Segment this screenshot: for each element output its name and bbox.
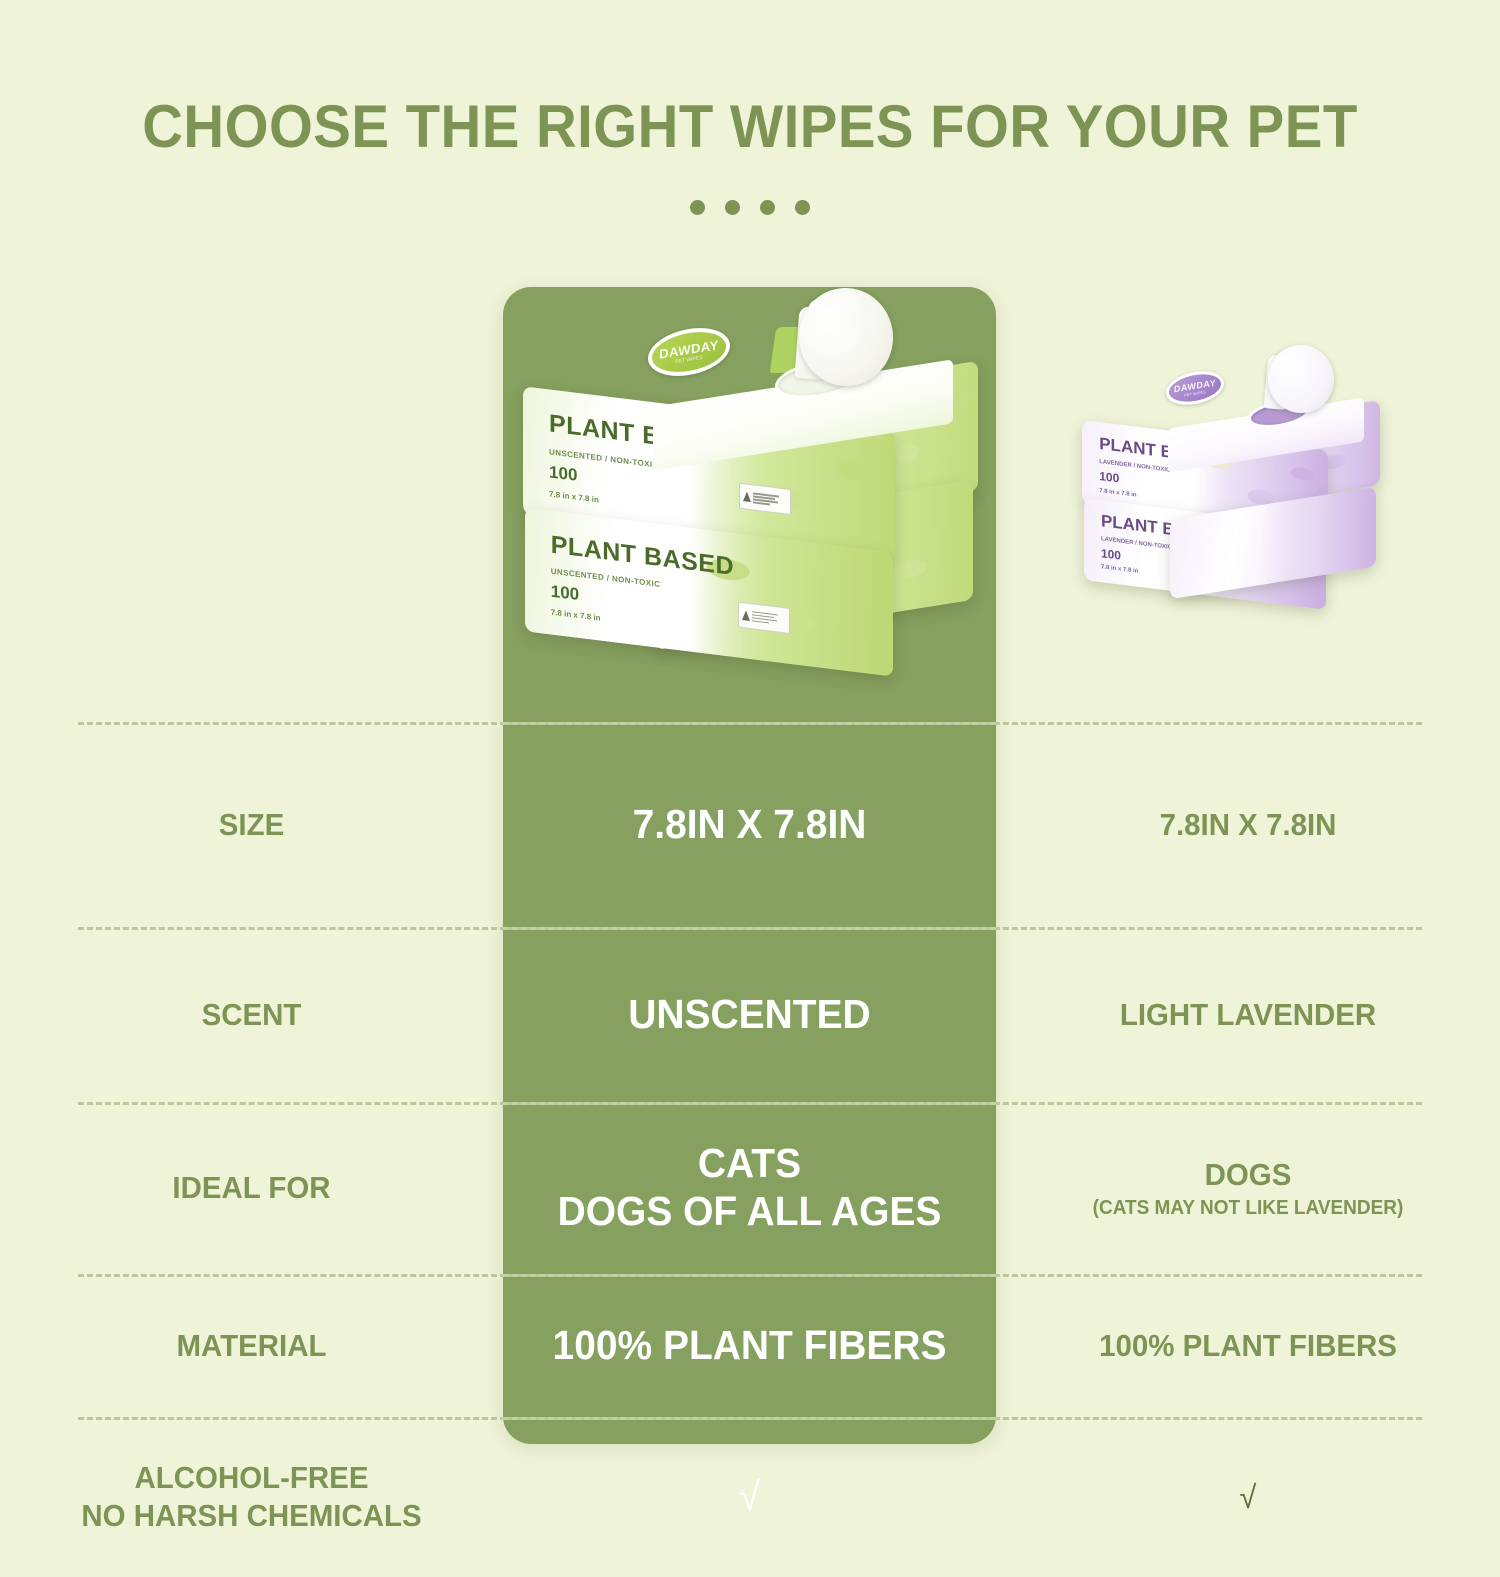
leaf-pattern (687, 527, 893, 676)
row-label-size: SIZE (13, 806, 491, 844)
cell-scent-lavender: LIGHT LAVENDER (1009, 996, 1488, 1033)
checkmark-icon-lavender: √ (1009, 1478, 1488, 1516)
pack-count: 100 (1099, 469, 1119, 485)
table-row-ideal-for: IDEAL FOR CATS DOGS OF ALL AGES DOGS (CA… (0, 1102, 1500, 1274)
page-title: CHOOSE THE RIGHT WIPES FOR YOUR PET (45, 92, 1455, 161)
table-row-alcohol-free: ALCOHOL-FREE NO HARSH CHEMICALS √ √ (0, 1417, 1500, 1577)
row-label-scent: SCENT (13, 996, 491, 1034)
leaf-pattern (1261, 487, 1376, 585)
row-separator (78, 1417, 1422, 1420)
tree-icon (742, 610, 750, 621)
checkmark-icon-unscented: √ (515, 1474, 983, 1520)
decoration-dot (725, 200, 740, 215)
brand-badge: DAWDAY PET WIPES (648, 323, 730, 382)
pack-count: 100 (1101, 546, 1121, 562)
cell-size-lavender: 7.8IN X 7.8IN (1009, 806, 1488, 843)
product-image-lavender: PLANT BASED PLANT BASED LAVENDER / NON-T… (1070, 345, 1410, 645)
decoration-dot (690, 200, 705, 215)
fsc-text-lines (753, 493, 779, 507)
cell-ideal-unscented-line1: CATS (698, 1140, 801, 1186)
cell-material-unscented: 100% PLANT FIBERS (515, 1322, 983, 1370)
row-separator (78, 1274, 1422, 1277)
product-image-unscented: PLANT BASED PLANT BASED UNSCENTED / NON-… (503, 287, 996, 707)
cell-ideal-lavender-main: DOGS (1205, 1157, 1292, 1192)
row-separator (78, 927, 1422, 930)
decoration-dot (760, 200, 775, 215)
row-label-ideal-for: IDEAL FOR (13, 1169, 491, 1207)
cell-scent-unscented: UNSCENTED (515, 991, 983, 1039)
cell-ideal-unscented: CATS DOGS OF ALL AGES (515, 1140, 983, 1235)
cell-ideal-lavender-note: (CATS MAY NOT LIKE LAVENDER) (1009, 1196, 1488, 1220)
pack-count: 100 (551, 581, 579, 604)
pack-count: 100 (549, 462, 577, 485)
row-separator (78, 722, 1422, 725)
cell-ideal-lavender: DOGS (CATS MAY NOT LIKE LAVENDER) (1009, 1156, 1488, 1219)
brand-badge: DAWDAY PET WIPES (1166, 367, 1224, 408)
cell-ideal-unscented-line2: DOGS OF ALL AGES (558, 1188, 942, 1234)
row-separator (78, 1102, 1422, 1105)
table-row-material: MATERIAL 100% PLANT FIBERS 100% PLANT FI… (0, 1274, 1500, 1417)
row-label-alcohol-free-line2: NO HARSH CHEMICALS (81, 1498, 421, 1533)
row-label-alcohol-free: ALCOHOL-FREE NO HARSH CHEMICALS (13, 1459, 491, 1535)
table-row-size: SIZE 7.8IN X 7.8IN 7.8IN X 7.8IN (0, 722, 1500, 927)
fsc-text-lines (752, 611, 778, 625)
infographic-canvas: CHOOSE THE RIGHT WIPES FOR YOUR PET PLAN… (0, 0, 1500, 1500)
comparison-table: SIZE 7.8IN X 7.8IN 7.8IN X 7.8IN SCENT U… (0, 722, 1500, 1577)
row-label-material: MATERIAL (13, 1327, 491, 1365)
cell-material-lavender: 100% PLANT FIBERS (1009, 1327, 1488, 1364)
tree-icon (743, 492, 751, 503)
row-label-alcohol-free-line1: ALCOHOL-FREE (135, 1460, 369, 1495)
table-row-scent: SCENT UNSCENTED LIGHT LAVENDER (0, 927, 1500, 1102)
cell-size-unscented: 7.8IN X 7.8IN (515, 801, 983, 849)
title-dot-decoration (0, 200, 1500, 215)
decoration-dot (795, 200, 810, 215)
